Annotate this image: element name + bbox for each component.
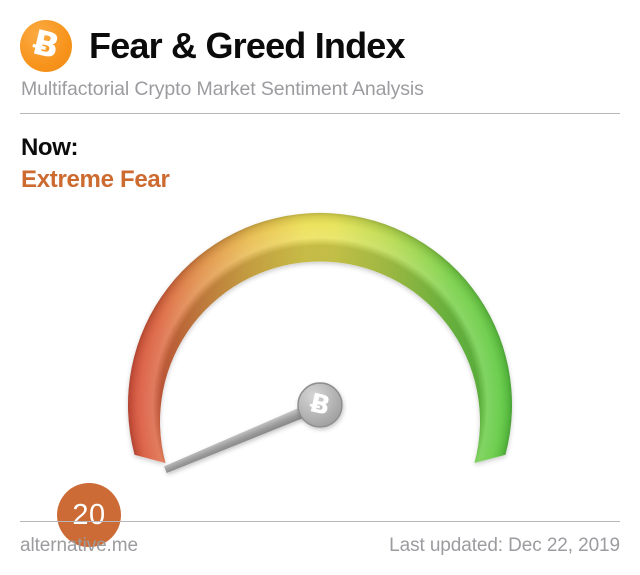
gauge-svg: Ƀ [0,196,640,506]
page-subtitle: Multifactorial Crypto Market Sentiment A… [21,78,424,101]
header-divider [20,113,620,114]
brand-row: Ƀ Fear & Greed Index [20,18,620,74]
status-value-label: Extreme Fear [21,165,170,195]
bitcoin-glyph: Ƀ [30,26,63,65]
status-now-label: Now: [21,134,170,162]
bitcoin-icon: Ƀ [20,20,72,72]
footer-divider [20,521,620,522]
fear-greed-index-card: Ƀ Fear & Greed Index Multifactorial Cryp… [0,0,640,575]
gauge-hub: Ƀ [298,383,342,427]
gauge: Ƀ 20 [0,196,640,506]
footer-source[interactable]: alternative.me [20,535,138,557]
footer-last-updated: Last updated: Dec 22, 2019 [389,535,620,557]
status-block: Now: Extreme Fear [21,134,170,195]
header: Ƀ Fear & Greed Index Multifactorial Cryp… [20,18,620,106]
score-value: 20 [72,501,105,530]
page-title: Fear & Greed Index [89,28,405,64]
footer: alternative.me Last updated: Dec 22, 201… [20,531,620,561]
